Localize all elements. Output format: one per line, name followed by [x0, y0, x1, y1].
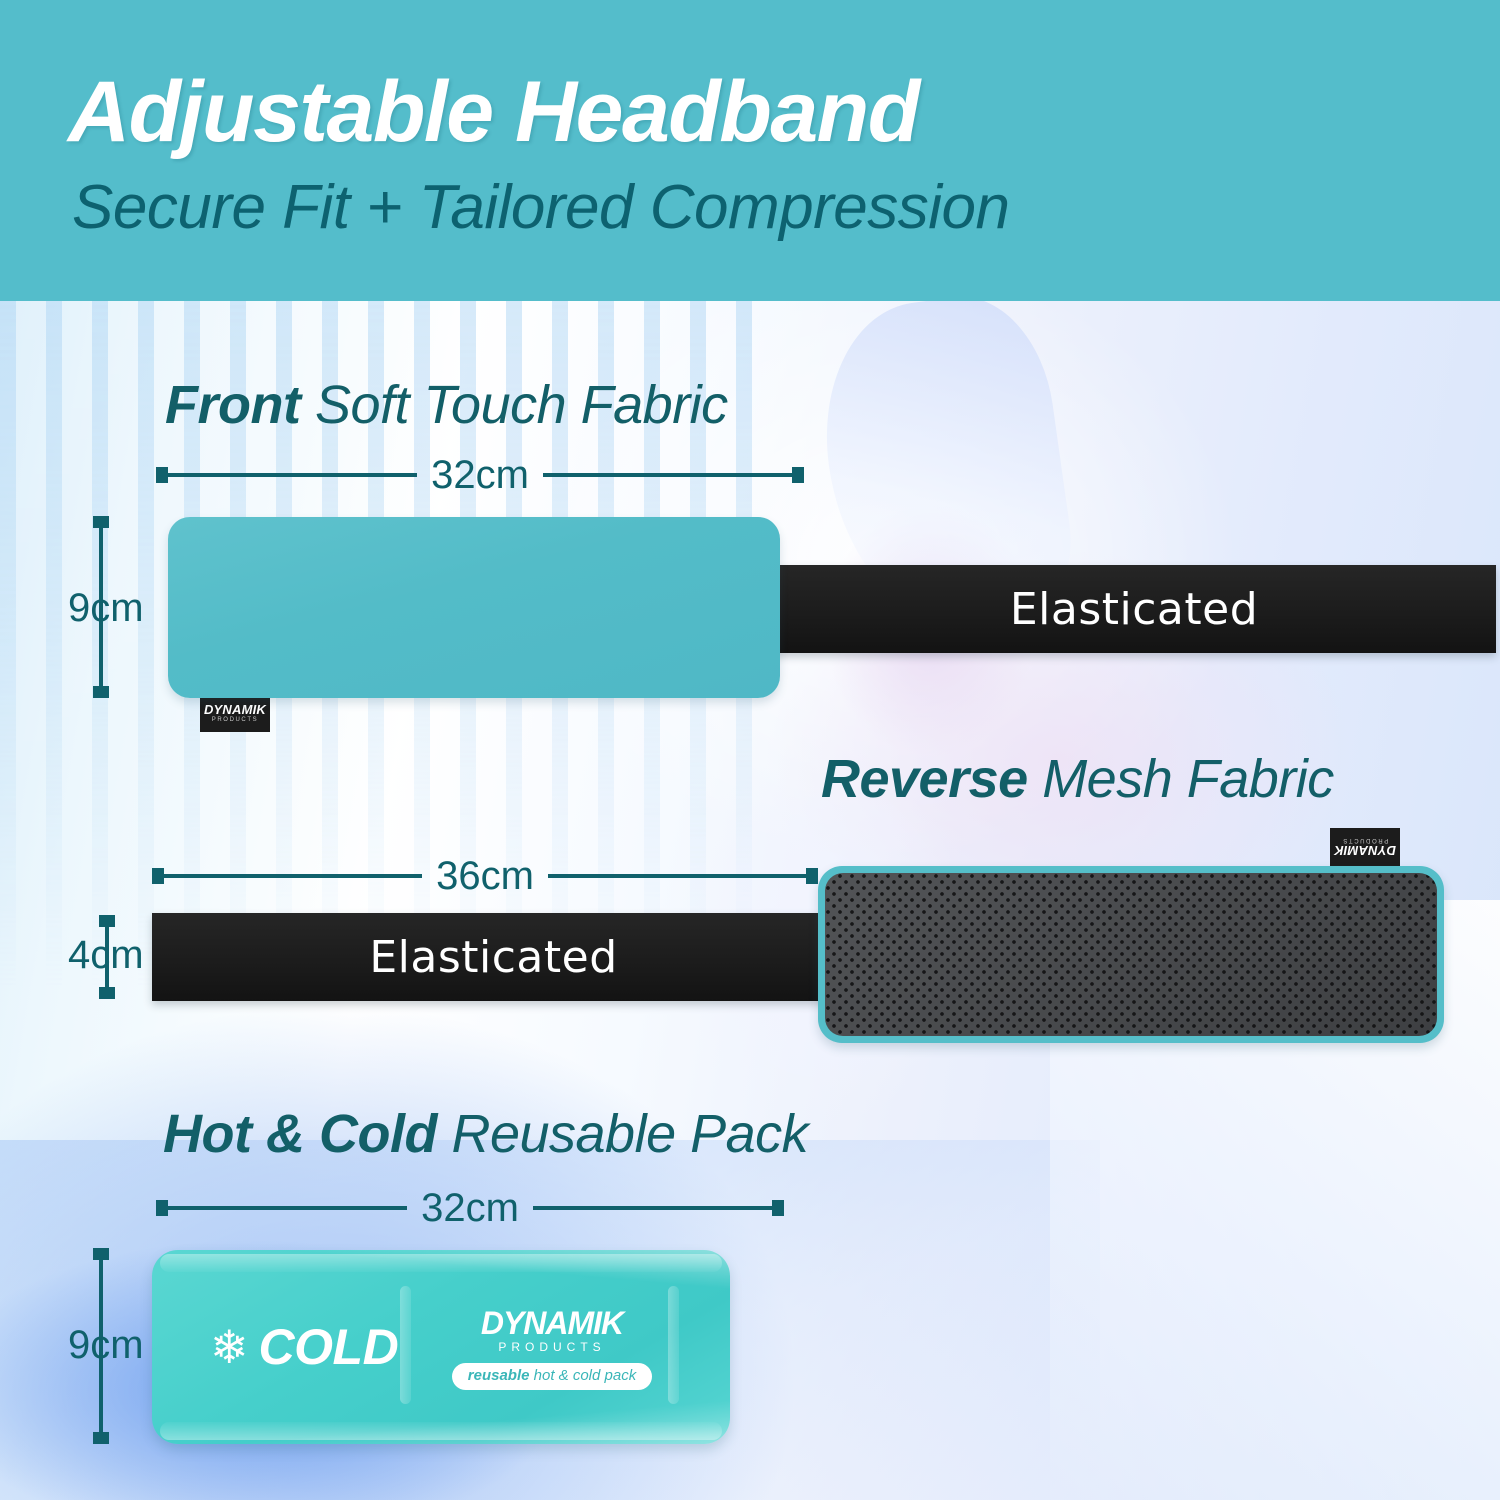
dynamik-tag-front: DYNAMIK PRODUCTS	[200, 694, 270, 732]
strap-reverse-label: Elasticated	[369, 932, 617, 983]
front-soft-touch-panel	[168, 517, 780, 698]
tag-brand-name: DYNAMIK	[204, 703, 266, 716]
dimension-rule-right	[533, 1206, 772, 1210]
pill-light-text: hot & cold pack	[529, 1367, 636, 1384]
dimension-cap-top	[93, 1248, 109, 1260]
dimension-rule-right	[543, 473, 792, 477]
gel-pack-pill-badge: reusable hot & cold pack	[452, 1363, 652, 1390]
section-heading-front: Front Soft Touch Fabric	[165, 374, 728, 436]
gel-pack-cold-label: COLD	[259, 1322, 399, 1372]
gel-pack-divider	[668, 1286, 679, 1404]
dimension-pack-width: 32cm	[156, 1195, 784, 1221]
heading-hotcold-light: Reusable Pack	[437, 1104, 808, 1164]
gel-pack-brand-name: DYNAMIK	[452, 1307, 652, 1339]
page-title: Adjustable Headband	[68, 63, 919, 162]
tag-brand-sub: PRODUCTS	[212, 717, 258, 723]
dimension-cap-bottom	[93, 686, 109, 698]
dimension-cap-bottom	[93, 1432, 109, 1444]
elasticated-strap-reverse: Elasticated	[152, 913, 835, 1001]
dynamik-tag-reverse: DYNAMIK PRODUCTS	[1330, 828, 1400, 866]
heading-front-strong: Front	[165, 375, 300, 435]
dimension-front-height-label: 9cm	[68, 588, 144, 628]
gel-pack-cold-group: ❄ COLD	[210, 1322, 398, 1372]
hot-cold-gel-pack: ❄ COLD DYNAMIK PRODUCTS reusable hot & c…	[152, 1250, 730, 1444]
strap-front-label: Elasticated	[1010, 584, 1258, 635]
dimension-cap-bottom	[99, 987, 115, 999]
dimension-cap-right	[806, 868, 818, 884]
dimension-front-width: 32cm	[156, 462, 804, 488]
heading-reverse-light: Mesh Fabric	[1028, 749, 1334, 809]
section-heading-reverse: Reverse Mesh Fabric	[821, 748, 1334, 810]
dimension-cap-right	[772, 1200, 784, 1216]
heading-front-light: Soft Touch Fabric	[300, 375, 727, 435]
dimension-cap-top	[99, 915, 115, 927]
page-subtitle: Secure Fit + Tailored Compression	[72, 172, 1009, 243]
dimension-reverse-width-label: 36cm	[422, 856, 548, 896]
reverse-mesh-panel	[818, 866, 1444, 1043]
dimension-reverse-width: 36cm	[152, 863, 818, 889]
gel-pack-brand-block: DYNAMIK PRODUCTS reusable hot & cold pac…	[452, 1307, 652, 1390]
gel-pack-brand-sub: PRODUCTS	[452, 1341, 652, 1353]
dimension-front-width-label: 32cm	[417, 455, 543, 495]
heading-hotcold-strong: Hot & Cold	[163, 1104, 437, 1164]
dimension-pack-height-label: 9cm	[68, 1325, 144, 1365]
section-heading-hotcold: Hot & Cold Reusable Pack	[163, 1103, 808, 1165]
gel-pack-divider	[400, 1286, 411, 1404]
gel-pack-seal-top	[160, 1254, 722, 1272]
elasticated-strap-front: Elasticated	[772, 565, 1496, 653]
dimension-reverse-height-label: 4cm	[68, 935, 144, 975]
dimension-cap-left	[156, 1200, 168, 1216]
dimension-cap-left	[156, 467, 168, 483]
tag-brand-sub: PRODUCTS	[1342, 837, 1388, 843]
heading-reverse-strong: Reverse	[821, 749, 1028, 809]
dimension-rule-right	[548, 874, 806, 878]
dimension-pack-width-label: 32cm	[407, 1188, 533, 1228]
header-banner: Adjustable Headband Secure Fit + Tailore…	[0, 0, 1500, 301]
dimension-rule-left	[164, 874, 422, 878]
gel-pack-seal-bottom	[160, 1422, 722, 1440]
mesh-texture	[825, 873, 1437, 1036]
dimension-cap-right	[792, 467, 804, 483]
dimension-rule-left	[168, 473, 417, 477]
dimension-cap-left	[152, 868, 164, 884]
infographic-canvas: Adjustable Headband Secure Fit + Tailore…	[0, 0, 1500, 1500]
dimension-cap-top	[93, 516, 109, 528]
dimension-rule-left	[168, 1206, 407, 1210]
snowflake-icon: ❄	[210, 1324, 249, 1370]
pill-strong-text: reusable	[468, 1367, 530, 1384]
tag-brand-name: DYNAMIK	[1334, 844, 1396, 857]
